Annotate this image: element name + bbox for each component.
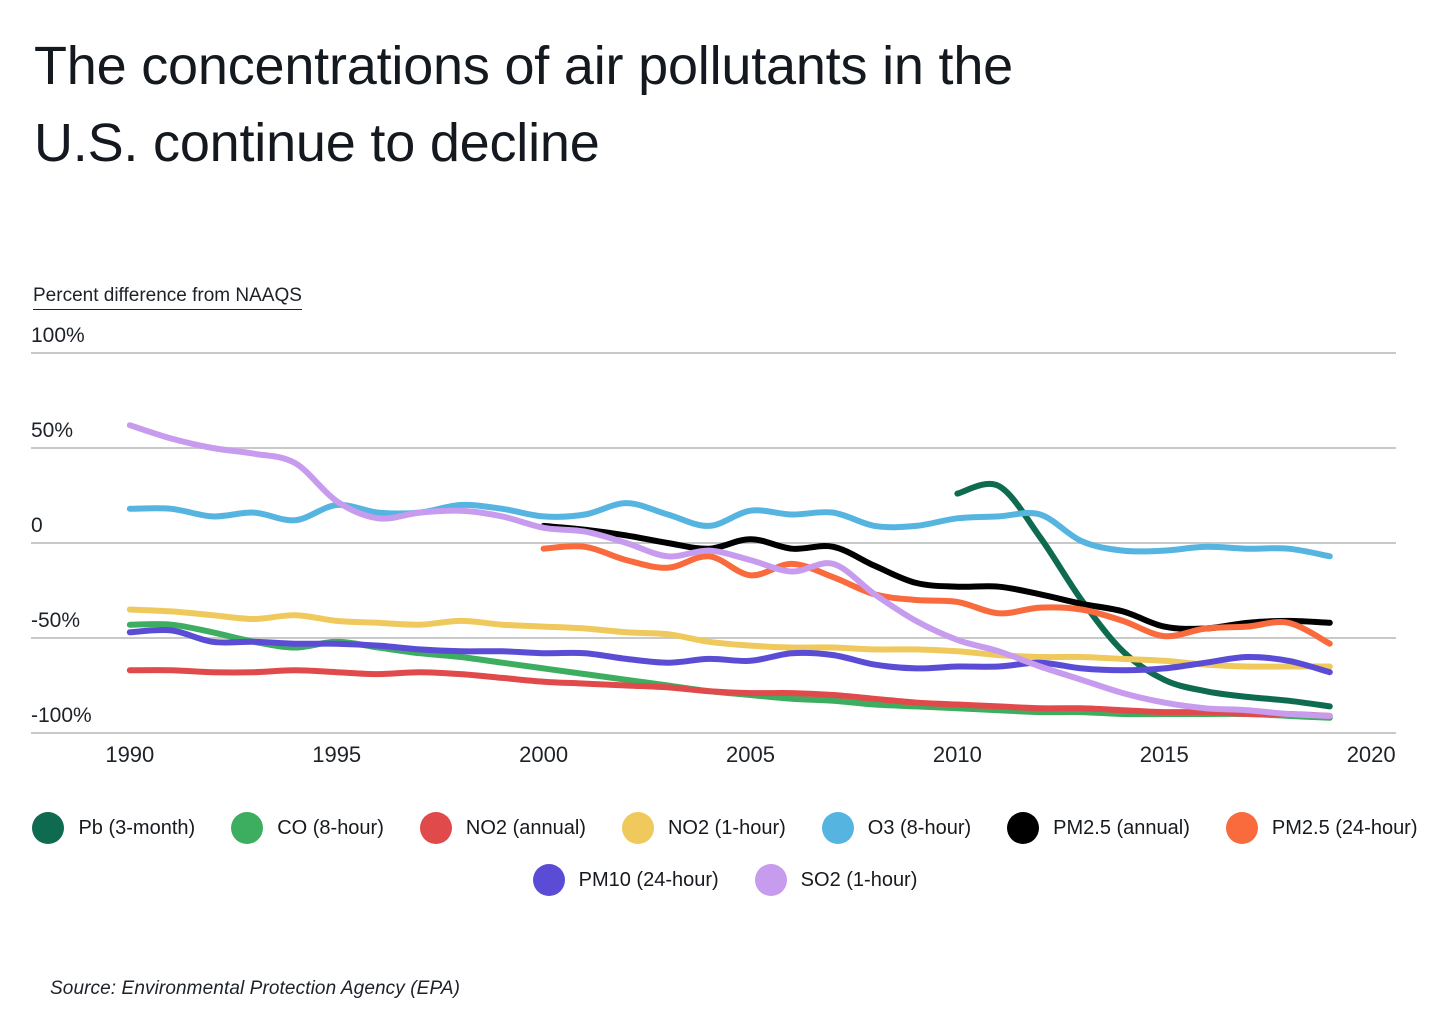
chart-legend: Pb (3-month)CO (8-hour)NO2 (annual)NO2 (…: [0, 812, 1450, 896]
legend-item[interactable]: Pb (3-month): [32, 812, 195, 844]
y-tick-label: 50%: [31, 420, 73, 441]
legend-label: SO2 (1-hour): [801, 869, 918, 892]
source-note: Source: Environmental Protection Agency …: [50, 978, 460, 1000]
legend-item[interactable]: PM10 (24-hour): [533, 864, 719, 896]
legend-swatch-icon: [231, 812, 263, 844]
legend-swatch-icon: [1226, 812, 1258, 844]
legend-label: NO2 (annual): [466, 817, 586, 840]
legend-label: PM2.5 (24-hour): [1272, 817, 1418, 840]
legend-item[interactable]: CO (8-hour): [231, 812, 384, 844]
y-tick-label: 0: [31, 515, 43, 536]
legend-swatch-icon: [822, 812, 854, 844]
legend-row-2: PM10 (24-hour)SO2 (1-hour): [0, 864, 1450, 896]
x-tick-label: 2000: [519, 744, 568, 766]
legend-item[interactable]: SO2 (1-hour): [755, 864, 918, 896]
legend-swatch-icon: [622, 812, 654, 844]
legend-swatch-icon: [1007, 812, 1039, 844]
x-tick-label: 2020: [1347, 744, 1396, 766]
legend-item[interactable]: PM2.5 (24-hour): [1226, 812, 1418, 844]
legend-swatch-icon: [533, 864, 565, 896]
legend-label: NO2 (1-hour): [668, 817, 786, 840]
legend-row-1: Pb (3-month)CO (8-hour)NO2 (annual)NO2 (…: [0, 812, 1450, 844]
series-line: [544, 526, 1330, 629]
series-line: [130, 670, 1330, 716]
series-line: [130, 503, 1330, 556]
legend-item[interactable]: NO2 (annual): [420, 812, 586, 844]
x-tick-label: 2005: [726, 744, 775, 766]
chart-page: The concentrations of air pollutants in …: [0, 0, 1450, 1012]
legend-swatch-icon: [420, 812, 452, 844]
x-tick-label: 1990: [105, 744, 154, 766]
x-tick-label: 1995: [312, 744, 361, 766]
legend-item[interactable]: PM2.5 (annual): [1007, 812, 1190, 844]
legend-label: O3 (8-hour): [868, 817, 971, 840]
x-tick-label: 2010: [933, 744, 982, 766]
series-line: [130, 630, 1330, 672]
legend-label: PM2.5 (annual): [1053, 817, 1190, 840]
legend-label: PM10 (24-hour): [579, 869, 719, 892]
legend-label: CO (8-hour): [277, 817, 384, 840]
x-tick-label: 2015: [1140, 744, 1189, 766]
legend-item[interactable]: O3 (8-hour): [822, 812, 971, 844]
y-tick-label: 100%: [31, 325, 85, 346]
legend-label: Pb (3-month): [78, 817, 195, 840]
legend-swatch-icon: [755, 864, 787, 896]
y-tick-label: -50%: [31, 610, 80, 631]
y-tick-label: -100%: [31, 705, 92, 726]
legend-item[interactable]: NO2 (1-hour): [622, 812, 786, 844]
legend-swatch-icon: [32, 812, 64, 844]
